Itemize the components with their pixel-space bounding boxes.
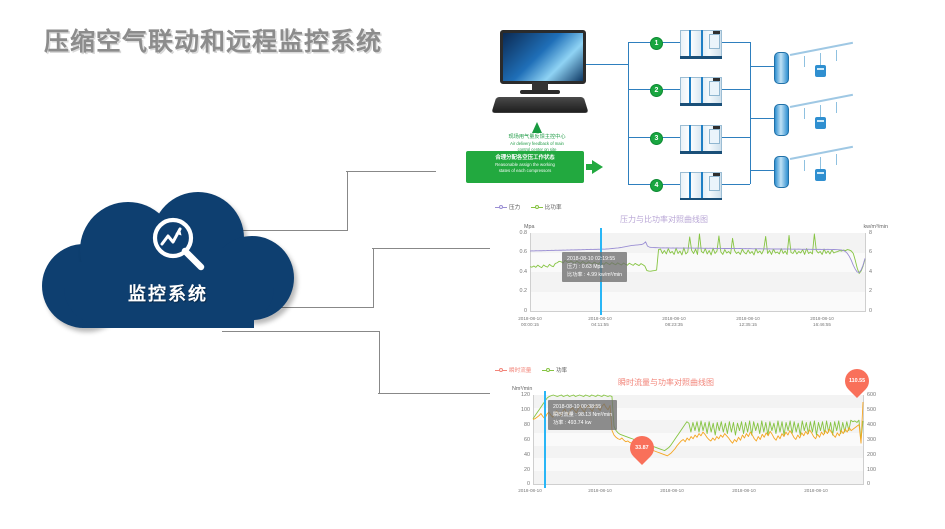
chart1-ytick: 0.6 <box>504 249 527 255</box>
status-note-cn: 合理分配各空压工作状态 <box>466 154 584 162</box>
xtick-line1: 2018-08-10 <box>784 488 848 494</box>
status-note-en-2: states of each compressors <box>466 168 584 174</box>
chart2-y2tick: 0 <box>867 481 883 487</box>
bus-line-vertical <box>628 42 629 184</box>
right-arrow-icon <box>592 160 603 174</box>
chart2-ytick: 100 <box>507 407 530 413</box>
tank-feed-3 <box>750 170 774 171</box>
node-dot-4: 4 <box>650 179 663 192</box>
tank-pipeline-group <box>774 100 860 136</box>
connector-3-h1 <box>222 331 379 332</box>
legend-item-pressure[interactable]: 压力 <box>495 203 520 211</box>
node-dot-2: 2 <box>650 84 663 97</box>
slide-root: 压缩空气联动和远程监控系统 监控系统 <box>0 0 945 529</box>
out-line-2 <box>722 89 750 90</box>
chart2-ytick: 20 <box>507 467 530 473</box>
tank-pipeline-group <box>774 152 860 188</box>
chart2-axis-bottom <box>533 484 864 485</box>
monitor-caption-cn: 现场用气量反馈主控中心 <box>462 134 612 141</box>
chart1-y2tick: 6 <box>869 249 883 255</box>
chart2-ytick: 0 <box>507 481 530 487</box>
out-line-3 <box>722 137 750 138</box>
chart1-y2tick: 0 <box>869 308 883 314</box>
xtick-line2: 12:35:15 <box>716 322 780 328</box>
page-title: 压缩空气联动和远程监控系统 <box>44 22 382 58</box>
chart2-pin-max-label: 110.55 <box>849 378 865 384</box>
magnifier-chart-icon <box>147 214 209 276</box>
connector-1-v <box>347 171 348 231</box>
xtick-line2: 16:46:55 <box>790 322 854 328</box>
chart2-xtick: 2018-08-10 <box>712 488 776 494</box>
chart2-ytick: 80 <box>507 422 530 428</box>
chart1-xtick: 2018-08-10 04:11:55 <box>568 316 632 328</box>
chart2-xtick: 2018-08-10 <box>498 488 562 494</box>
legend-item-specific-power[interactable]: 比功率 <box>531 203 562 211</box>
chart2-axis-right <box>863 395 864 485</box>
chart1-axis-right <box>865 233 866 312</box>
chart1-tooltip-row2: 比功率 : 4.99 kw/m³/min <box>567 271 622 279</box>
connector-1-h2 <box>346 171 436 172</box>
tree-icon <box>532 122 542 133</box>
chart1-xtick: 2018-08-10 16:46:55 <box>790 316 854 328</box>
xtick-line1: 2018-08-10 <box>498 488 562 494</box>
chart1-y2tick: 2 <box>869 288 883 294</box>
chart2-pin-min-label: 33.87 <box>635 445 649 451</box>
legend-marker-specific-power <box>531 205 543 211</box>
chart1-axis-bottom <box>530 311 866 312</box>
chart2-xtick: 2018-08-10 <box>784 488 848 494</box>
legend-label-power: 功率 <box>556 368 567 374</box>
chart1-xtick: 2018-08-10 08:23:35 <box>642 316 706 328</box>
chart2-xtick: 2018-08-10 <box>640 488 704 494</box>
monitoring-cloud[interactable]: 监控系统 <box>42 192 294 329</box>
chart1-xtick: 2018-08-10 12:35:15 <box>716 316 780 328</box>
chart2-title: 瞬时流量与功率对照曲线图 <box>618 377 714 388</box>
legend-item-power[interactable]: 功率 <box>542 366 567 374</box>
legend-label-pressure: 压力 <box>509 205 520 211</box>
legend-item-flow[interactable]: 瞬时流量 <box>495 366 531 374</box>
legend-label-specific-power: 比功率 <box>545 205 562 211</box>
status-note-box: 合理分配各空压工作状态 Reasonable assign the workin… <box>466 151 584 183</box>
xtick-line1: 2018-08-10 <box>712 488 776 494</box>
xtick-line1: 2018-08-10 <box>640 488 704 494</box>
cloud-label: 监控系统 <box>42 280 294 306</box>
chart1-y2tick: 8 <box>869 230 883 236</box>
chart-panel-flow: 瞬时流量 功率 瞬时流量与功率对照曲线图 Nm³/min 120 100 80 … <box>490 364 890 504</box>
chart2-y2tick: 500 <box>867 407 883 413</box>
out-line-4 <box>722 184 750 185</box>
connector-2-v <box>373 248 374 308</box>
chart2-ytick: 120 <box>507 392 530 398</box>
xtick-line2: 00:00:15 <box>498 322 562 328</box>
compressor-unit <box>680 123 724 153</box>
xtick-line2: 08:23:35 <box>642 322 706 328</box>
chart-panel-pressure: 压力 比功率 压力与比功率对照曲线图 Mpa kw/m³/min 0.8 0.6… <box>490 200 890 336</box>
legend-marker-flow <box>495 368 507 374</box>
chart2-ytick: 40 <box>507 452 530 458</box>
chart1-y2tick: 4 <box>869 269 883 275</box>
chart1-ytick: 0 <box>504 308 527 314</box>
connector-3-h2 <box>378 393 493 394</box>
chart2-y2tick: 100 <box>867 467 883 473</box>
node-dot-1: 1 <box>650 37 663 50</box>
node-dot-3: 3 <box>650 132 663 145</box>
xtick-line2: 04:11:55 <box>568 322 632 328</box>
chart2-cursor-line[interactable] <box>544 391 546 488</box>
compressor-unit <box>680 75 724 105</box>
chart1-tooltip-time: 2018-08-10 02:19:55 <box>567 255 622 263</box>
chart2-y2tick: 600 <box>867 392 883 398</box>
architecture-diagram: 1 2 3 4 <box>440 18 940 203</box>
chart1-ytick: 0.8 <box>504 230 527 236</box>
chart1-xtick: 2018-08-10 00:00:15 <box>498 316 562 328</box>
chart1-legend: 压力 比功率 <box>495 203 571 211</box>
out-line-1 <box>722 42 750 43</box>
chart2-xtick: 2018-08-10 <box>568 488 632 494</box>
chart2-tooltip-row1: 瞬时流量 : 98.13 Nm³/min <box>553 411 612 419</box>
chart1-tooltip: 2018-08-10 02:19:55 压力 : 0.63 Mpa 比功率 : … <box>562 252 627 282</box>
out-bus-vertical <box>750 42 751 184</box>
chart2-y2tick: 400 <box>867 422 883 428</box>
chart1-ytick: 0.2 <box>504 288 527 294</box>
compressor-unit <box>680 28 724 58</box>
legend-marker-pressure <box>495 205 507 211</box>
connector-3-v <box>379 331 380 393</box>
tank-feed-1 <box>750 66 774 67</box>
legend-marker-power <box>542 368 554 374</box>
chart2-legend: 瞬时流量 功率 <box>495 366 576 374</box>
chart2-y2tick: 200 <box>867 452 883 458</box>
xtick-line1: 2018-08-10 <box>568 488 632 494</box>
bus-line-main <box>586 64 628 65</box>
legend-label-flow: 瞬时流量 <box>509 368 531 374</box>
connector-2-h2 <box>372 248 490 249</box>
chart1-tooltip-row1: 压力 : 0.63 Mpa <box>567 263 622 271</box>
chart1-title: 压力与比功率对照曲线图 <box>620 214 708 225</box>
chart2-tooltip-row2: 功率 : 493.74 kw <box>553 419 612 427</box>
chart2-tooltip-time: 2018-08-10 00:38:55 <box>553 403 612 411</box>
chart2-tooltip: 2018-08-10 00:38:55 瞬时流量 : 98.13 Nm³/min… <box>548 400 617 430</box>
tank-pipeline-group <box>774 48 860 84</box>
monitor-icon <box>494 30 586 118</box>
tank-feed-2 <box>750 118 774 119</box>
compressor-unit <box>680 170 724 200</box>
chart2-ytick: 60 <box>507 437 530 443</box>
chart2-y2tick: 300 <box>867 437 883 443</box>
chart1-ytick: 0.4 <box>504 269 527 275</box>
monitor-caption: 现场用气量反馈主控中心 Air delivery feedback of mai… <box>462 122 612 153</box>
